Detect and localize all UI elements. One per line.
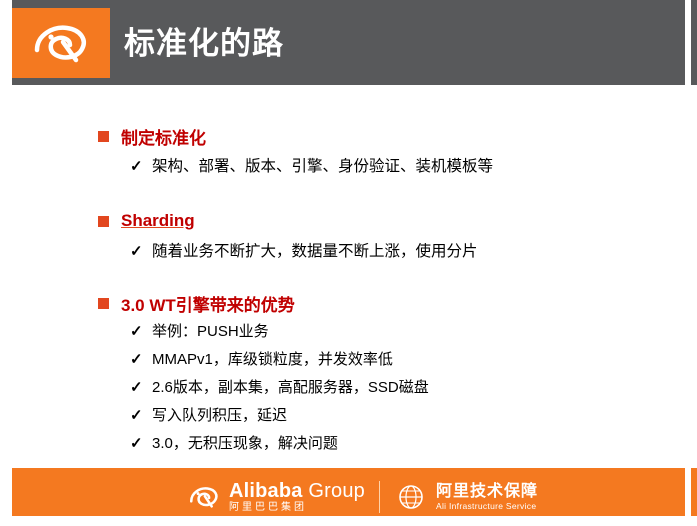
list-item-label: MMAPv1，库级锁粒度，并发效率低 xyxy=(152,350,393,370)
section-heading: 3.0 WT引擎带来的优势 xyxy=(121,291,295,316)
right-edge-margin xyxy=(685,0,691,526)
square-bullet-icon xyxy=(98,131,109,142)
section-heading: 制定标准化 xyxy=(121,124,206,149)
infrastructure-globe-icon xyxy=(394,482,428,512)
page-title: 标准化的路 xyxy=(124,18,284,63)
alibaba-swirl-icon xyxy=(29,19,93,67)
alibaba-swirl-icon xyxy=(187,484,221,510)
list-item-label: 3.0，无积压现象，解决问题 xyxy=(152,434,338,454)
brand-name-en-main: Alibaba xyxy=(229,480,303,502)
footer-divider xyxy=(379,481,380,513)
content-section-2: Sharding ✓ 随着业务不断扩大，数据量不断上涨，使用分片 xyxy=(98,210,478,262)
list-item: ✓ 随着业务不断扩大，数据量不断上涨，使用分片 xyxy=(130,242,478,262)
infrastructure-text-block: 阿里技术保障 Ali Infrastructure Service xyxy=(436,483,538,512)
check-icon: ✓ xyxy=(130,378,152,398)
section-heading: Sharding xyxy=(121,211,195,231)
list-item-label: 举例：PUSH业务 xyxy=(152,322,269,342)
brand-name-en: Alibaba Group xyxy=(229,481,365,502)
brand-name-en-suffix: Group xyxy=(308,480,365,502)
footer-brand-lockup: Alibaba Group 阿里巴巴集团 阿里技术保障 Ali Inf xyxy=(187,481,538,514)
list-item-label: 随着业务不断扩大，数据量不断上涨，使用分片 xyxy=(152,242,478,262)
brand-name-cn: 阿里巴巴集团 xyxy=(229,503,365,514)
unit-name-en: Ali Infrastructure Service xyxy=(436,502,538,511)
logo-badge xyxy=(11,8,110,78)
check-icon: ✓ xyxy=(130,350,152,370)
slide-content: 制定标准化 ✓ 架构、部署、版本、引擎、身份验证、装机模板等 Sharding … xyxy=(6,85,697,468)
list-item-label: 2.6版本，副本集，高配服务器，SSD磁盘 xyxy=(152,378,429,398)
list-item-label: 架构、部署、版本、引擎、身份验证、装机模板等 xyxy=(152,157,493,177)
check-icon: ✓ xyxy=(130,434,152,454)
square-bullet-icon xyxy=(98,298,109,309)
section-heading-row: Sharding xyxy=(98,210,478,232)
check-icon: ✓ xyxy=(130,322,152,342)
content-section-3: 3.0 WT引擎带来的优势 ✓ 举例：PUSH业务 ✓ MMAPv1，库级锁粒度… xyxy=(98,292,429,454)
list-item: ✓ MMAPv1，库级锁粒度，并发效率低 xyxy=(130,350,429,370)
check-icon: ✓ xyxy=(130,157,152,177)
check-icon: ✓ xyxy=(130,406,152,426)
list-item-label: 写入队列积压，延迟 xyxy=(152,406,287,426)
section-heading-row: 3.0 WT引擎带来的优势 xyxy=(98,292,429,314)
list-item: ✓ 2.6版本，副本集，高配服务器，SSD磁盘 xyxy=(130,378,429,398)
list-item: ✓ 写入队列积压，延迟 xyxy=(130,406,429,426)
list-item: ✓ 架构、部署、版本、引擎、身份验证、装机模板等 xyxy=(130,157,493,177)
check-icon: ✓ xyxy=(130,242,152,262)
content-section-1: 制定标准化 ✓ 架构、部署、版本、引擎、身份验证、装机模板等 xyxy=(98,125,493,177)
section-heading-row: 制定标准化 xyxy=(98,125,493,147)
left-edge-margin xyxy=(6,0,12,526)
brand-text-block: Alibaba Group 阿里巴巴集团 xyxy=(229,481,365,514)
infrastructure-brand: 阿里技术保障 Ali Infrastructure Service xyxy=(394,482,538,512)
unit-name-cn: 阿里技术保障 xyxy=(436,483,538,501)
alibaba-group-brand: Alibaba Group 阿里巴巴集团 xyxy=(187,481,365,514)
list-item: ✓ 举例：PUSH业务 xyxy=(130,322,429,342)
bottom-white-strip xyxy=(6,516,697,526)
slide-header: 标准化的路 xyxy=(6,0,697,85)
list-item: ✓ 3.0，无积压现象，解决问题 xyxy=(130,434,429,454)
square-bullet-icon xyxy=(98,216,109,227)
presentation-slide: 标准化的路 制定标准化 ✓ 架构、部署、版本、引擎、身份验证、装机模板等 Sha… xyxy=(0,0,697,526)
